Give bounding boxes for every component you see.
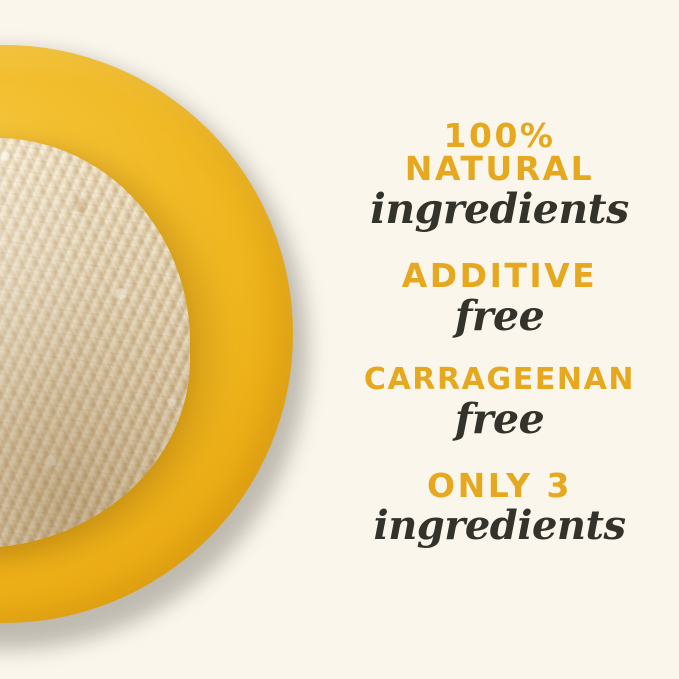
claim-headline-only-three: ONLY 3 [320, 469, 679, 503]
claim-natural-ingredients: 100% NATURAL ingredients [320, 119, 679, 233]
claim-script-ingredients: ingredients [320, 187, 679, 233]
claim-script-ingredients-2: ingredients [320, 504, 679, 549]
claim-script-free-additive: free [320, 294, 679, 340]
claim-script-free-carrageenan: free [320, 397, 679, 443]
claim-headline-carrageenan: CARRAGEENAN [320, 365, 679, 396]
claim-headline-additive: ADDITIVE [320, 259, 679, 293]
claim-additive-free: ADDITIVE free [320, 259, 679, 340]
claim-headline-percent: 100% [320, 119, 679, 153]
claim-carrageenan-free: CARRAGEENAN free [320, 365, 679, 443]
plate-photo [0, 0, 340, 679]
claims-list: 100% NATURAL ingredients ADDITIVE free C… [320, 0, 679, 679]
claim-only-three-ingredients: ONLY 3 ingredients [320, 469, 679, 548]
claim-headline-natural: NATURAL [320, 152, 679, 186]
food-shading-overlay [0, 138, 190, 548]
product-claims-graphic: 100% NATURAL ingredients ADDITIVE free C… [0, 0, 679, 679]
shredded-chicken-mound [0, 138, 190, 548]
